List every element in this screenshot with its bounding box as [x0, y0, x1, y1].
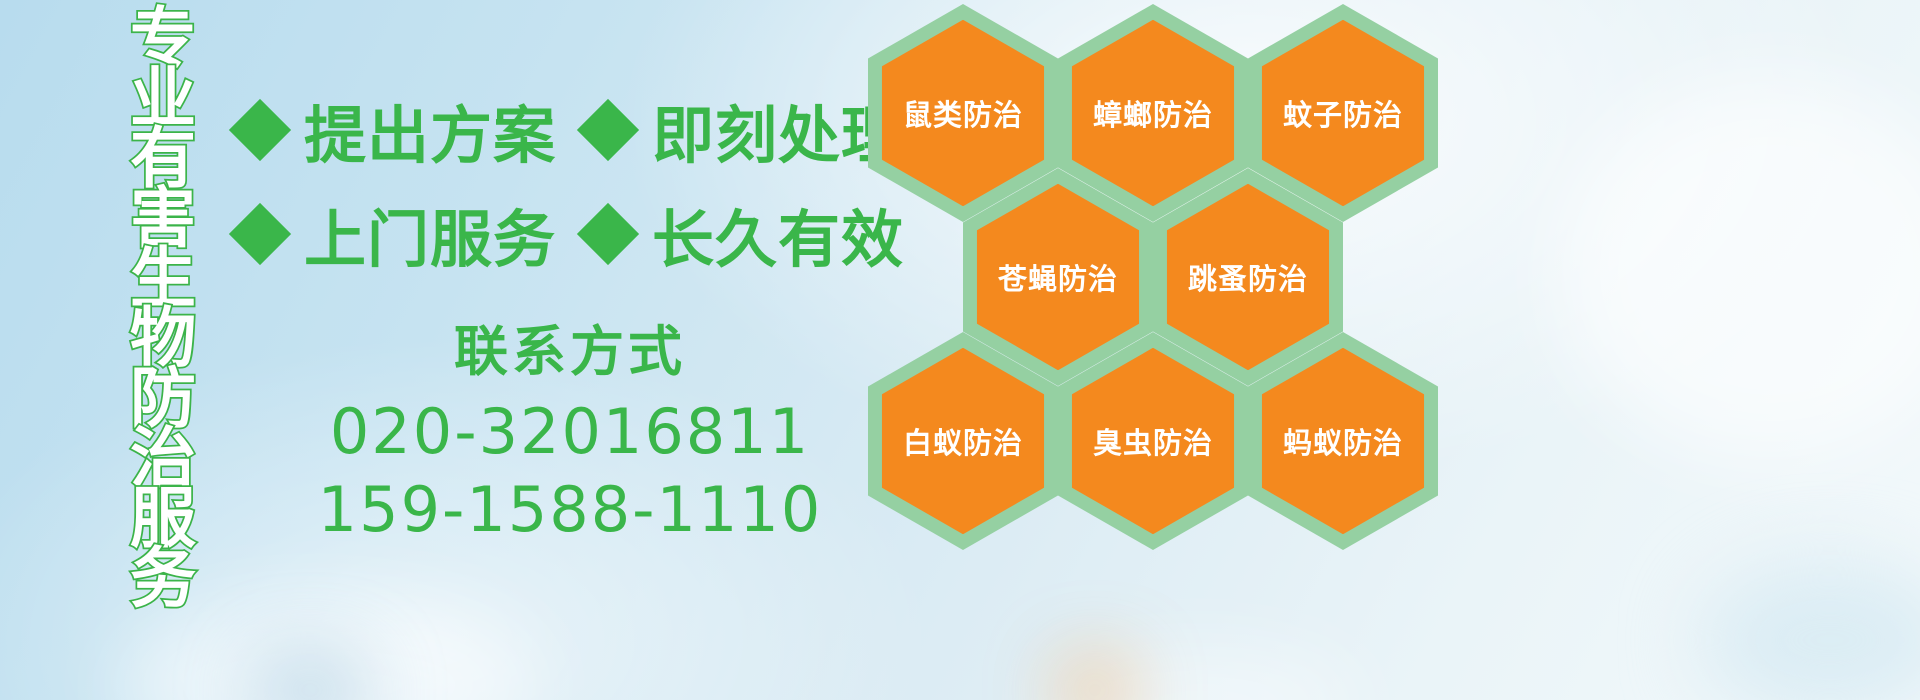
feature-row: 上门服务 长久有效 [238, 182, 878, 286]
background-blur-blob [1040, 650, 1360, 700]
service-hex-termite[interactable]: 白蚁防治 [868, 332, 1058, 550]
background-blur-blob [1060, 660, 1130, 700]
background-blur-blob [1700, 560, 1920, 700]
vertical-headline: 专 业 有 害 生 物 防 治 服 务 [108, 8, 218, 608]
feature-item-propose-plan: 提出方案 [238, 85, 556, 175]
service-label: 蚂蚁防治 [1248, 332, 1438, 550]
feature-label: 提出方案 [304, 85, 556, 175]
vertical-headline-char: 物 [130, 308, 196, 368]
feature-item-onsite-service: 上门服务 [238, 189, 556, 279]
service-hex-ant[interactable]: 蚂蚁防治 [1248, 332, 1438, 550]
diamond-icon [229, 203, 291, 265]
phone-number-mobile[interactable]: 159-1588-1110 [300, 471, 840, 549]
vertical-headline-char: 专 [130, 8, 196, 68]
vertical-headline-char: 生 [130, 248, 196, 308]
promo-banner: 专 业 有 害 生 物 防 治 服 务 提出方案 即刻处理 上门服务 [0, 0, 1920, 700]
diamond-icon [577, 99, 639, 161]
contact-heading: 联系方式 [300, 322, 840, 381]
feature-row: 提出方案 即刻处理 [238, 78, 878, 182]
feature-item-immediate-handling: 即刻处理 [586, 85, 904, 175]
vertical-headline-char: 害 [130, 188, 196, 248]
vertical-headline-char: 服 [130, 488, 196, 548]
service-label: 白蚁防治 [868, 332, 1058, 550]
feature-list: 提出方案 即刻处理 上门服务 长久有效 [238, 78, 878, 286]
vertical-headline-char: 业 [130, 68, 196, 128]
diamond-icon [229, 99, 291, 161]
vertical-headline-char: 务 [130, 548, 196, 608]
background-blur-blob [1560, 80, 1920, 460]
diamond-icon [577, 203, 639, 265]
feature-label: 上门服务 [304, 189, 556, 279]
feature-item-long-lasting: 长久有效 [586, 189, 904, 279]
background-blur-blob [250, 655, 370, 700]
vertical-headline-char: 防 [130, 368, 196, 428]
contact-block: 联系方式 020-32016811 159-1588-1110 [300, 322, 840, 548]
phone-number-landline[interactable]: 020-32016811 [300, 393, 840, 471]
vertical-headline-char: 有 [130, 128, 196, 188]
service-honeycomb: 鼠类防治 蟑螂防治 蚊子防治 苍蝇防治 跳蚤防治 白蚁防治 [860, 0, 1460, 560]
service-label: 臭虫防治 [1058, 332, 1248, 550]
service-hex-bedbug[interactable]: 臭虫防治 [1058, 332, 1248, 550]
vertical-headline-char: 治 [130, 428, 196, 488]
